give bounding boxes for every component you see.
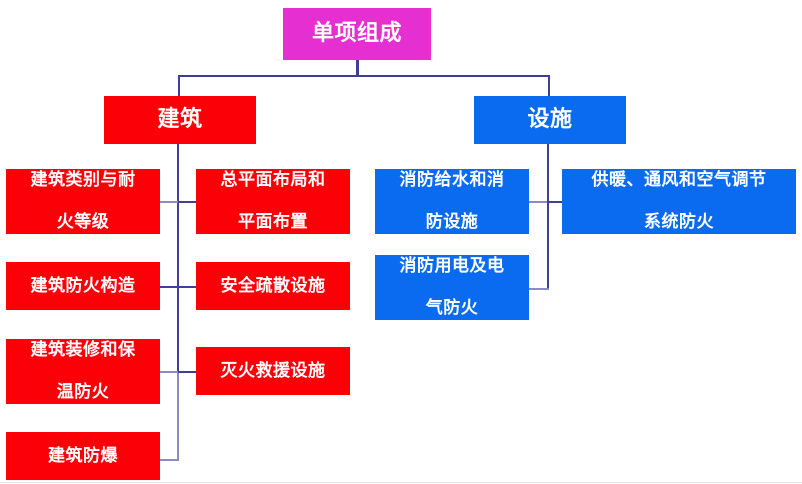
leaf-building-decoration-insulation[interactable]: 建筑装修和保 温防火 [6,339,160,404]
leaf-safe-evacuation-facilities[interactable]: 安全疏散设施 [196,262,350,310]
node-root[interactable]: 单项组成 [283,8,431,60]
bottom-divider [0,482,802,483]
connector-root-stem [356,60,359,76]
node-root-label: 单项组成 [283,21,431,48]
leaf-site-plan-layout-label: 总平面布局和 平面布置 [196,170,350,232]
connector-building-trunk [177,144,179,371]
leaf-fire-water-supply[interactable]: 消防给水和消 防设施 [375,169,529,234]
leaf-firefighting-rescue-facilities-label: 灭火救援设施 [196,361,350,382]
connector-building-right-2 [178,286,196,288]
connector-building-right-3 [178,371,196,373]
leaf-firefighting-rescue-facilities[interactable]: 灭火救援设施 [196,347,350,395]
leaf-fire-electricity[interactable]: 消防用电及电 气防火 [375,255,529,320]
connector-building-trunk-lower [177,371,179,461]
leaf-building-explosion-proof[interactable]: 建筑防爆 [6,432,160,480]
leaf-building-decoration-insulation-label: 建筑装修和保 温防火 [6,340,160,402]
leaf-building-explosion-proof-label: 建筑防爆 [6,446,160,467]
leaf-building-class-fire-rating-label: 建筑类别与耐 火等级 [6,170,160,232]
leaf-site-plan-layout[interactable]: 总平面布局和 平面布置 [196,169,350,234]
leaf-fire-electricity-label: 消防用电及电 气防火 [375,256,529,318]
connector-facility-trunk [547,144,549,290]
leaf-hvac-fire-protection-label: 供暖、通风和空气调节 系统防火 [562,170,796,232]
leaf-building-fire-construction[interactable]: 建筑防火构造 [6,262,160,310]
leaf-building-fire-construction-label: 建筑防火构造 [6,276,160,297]
leaf-safe-evacuation-facilities-label: 安全疏散设施 [196,276,350,297]
leaf-hvac-fire-protection[interactable]: 供暖、通风和空气调节 系统防火 [562,169,796,234]
connector-to-building [178,75,180,96]
connector-building-left-1 [160,201,178,203]
connector-building-left-2 [160,286,178,288]
leaf-building-class-fire-rating[interactable]: 建筑类别与耐 火等级 [6,169,160,234]
connector-building-right-1 [178,201,196,203]
connector-facility-left-stub [529,201,547,203]
node-facility-label: 设施 [474,107,626,134]
connector-to-facility [548,75,550,96]
connector-building-left-3 [160,371,178,373]
node-building-label: 建筑 [104,107,256,134]
leaf-fire-water-supply-label: 消防给水和消 防设施 [375,170,529,232]
node-building[interactable]: 建筑 [104,96,256,144]
node-facility[interactable]: 设施 [474,96,626,144]
connector-facility-right-stub [548,201,562,203]
diagram-canvas: 单项组成 建筑 设施 建筑类别与耐 火等级 建筑防火构造 建筑装修和保 温防火 [0,0,802,484]
connector-level1-bus [178,75,550,77]
